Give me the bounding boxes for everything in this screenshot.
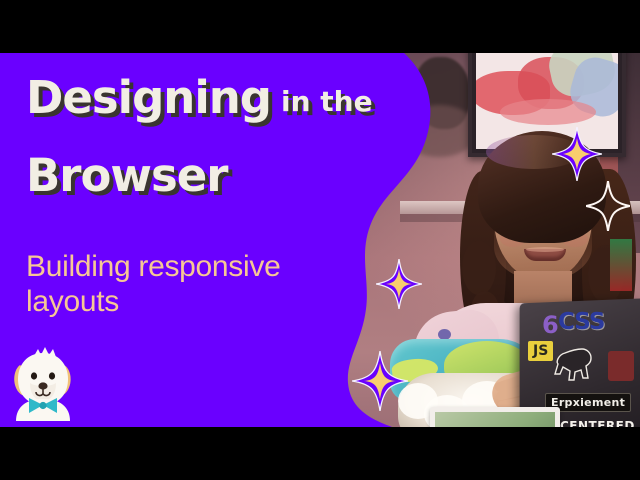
title-line-1: Designingin the — [26, 75, 373, 120]
sparkle-purple-large — [552, 127, 602, 181]
upper-lip — [526, 247, 564, 252]
letterbox-bottom — [0, 427, 640, 480]
sparkle-purple-mid — [376, 259, 422, 309]
sticker-stripe — [610, 239, 632, 291]
sparkle-white-outline — [586, 181, 630, 231]
video-thumbnail: 6 CSS JS Erpxiement CENTERED — [0, 0, 640, 480]
sticker-6: 6 — [542, 311, 559, 339]
sticker-red — [608, 351, 634, 381]
artwork-shape — [500, 99, 596, 125]
sticker-css: CSS — [558, 309, 604, 335]
sticker-js: JS — [528, 341, 553, 361]
video-frame: 6 CSS JS Erpxiement CENTERED — [0, 53, 640, 427]
dog-mascot-logo — [6, 345, 80, 421]
sticker-centered: CENTERED — [560, 419, 635, 427]
hair-curl — [462, 241, 496, 295]
title-word-browser: Browser — [26, 149, 227, 202]
title-line-2: Browser — [26, 153, 227, 198]
title-word-designing: Designing — [26, 71, 271, 124]
subtitle: Building responsive layouts — [26, 249, 356, 320]
title-word-in-the: in the — [281, 85, 373, 118]
dinosaur-sticker — [552, 347, 594, 381]
sparkle-purple-small — [352, 351, 408, 411]
letterbox-top — [0, 0, 640, 53]
